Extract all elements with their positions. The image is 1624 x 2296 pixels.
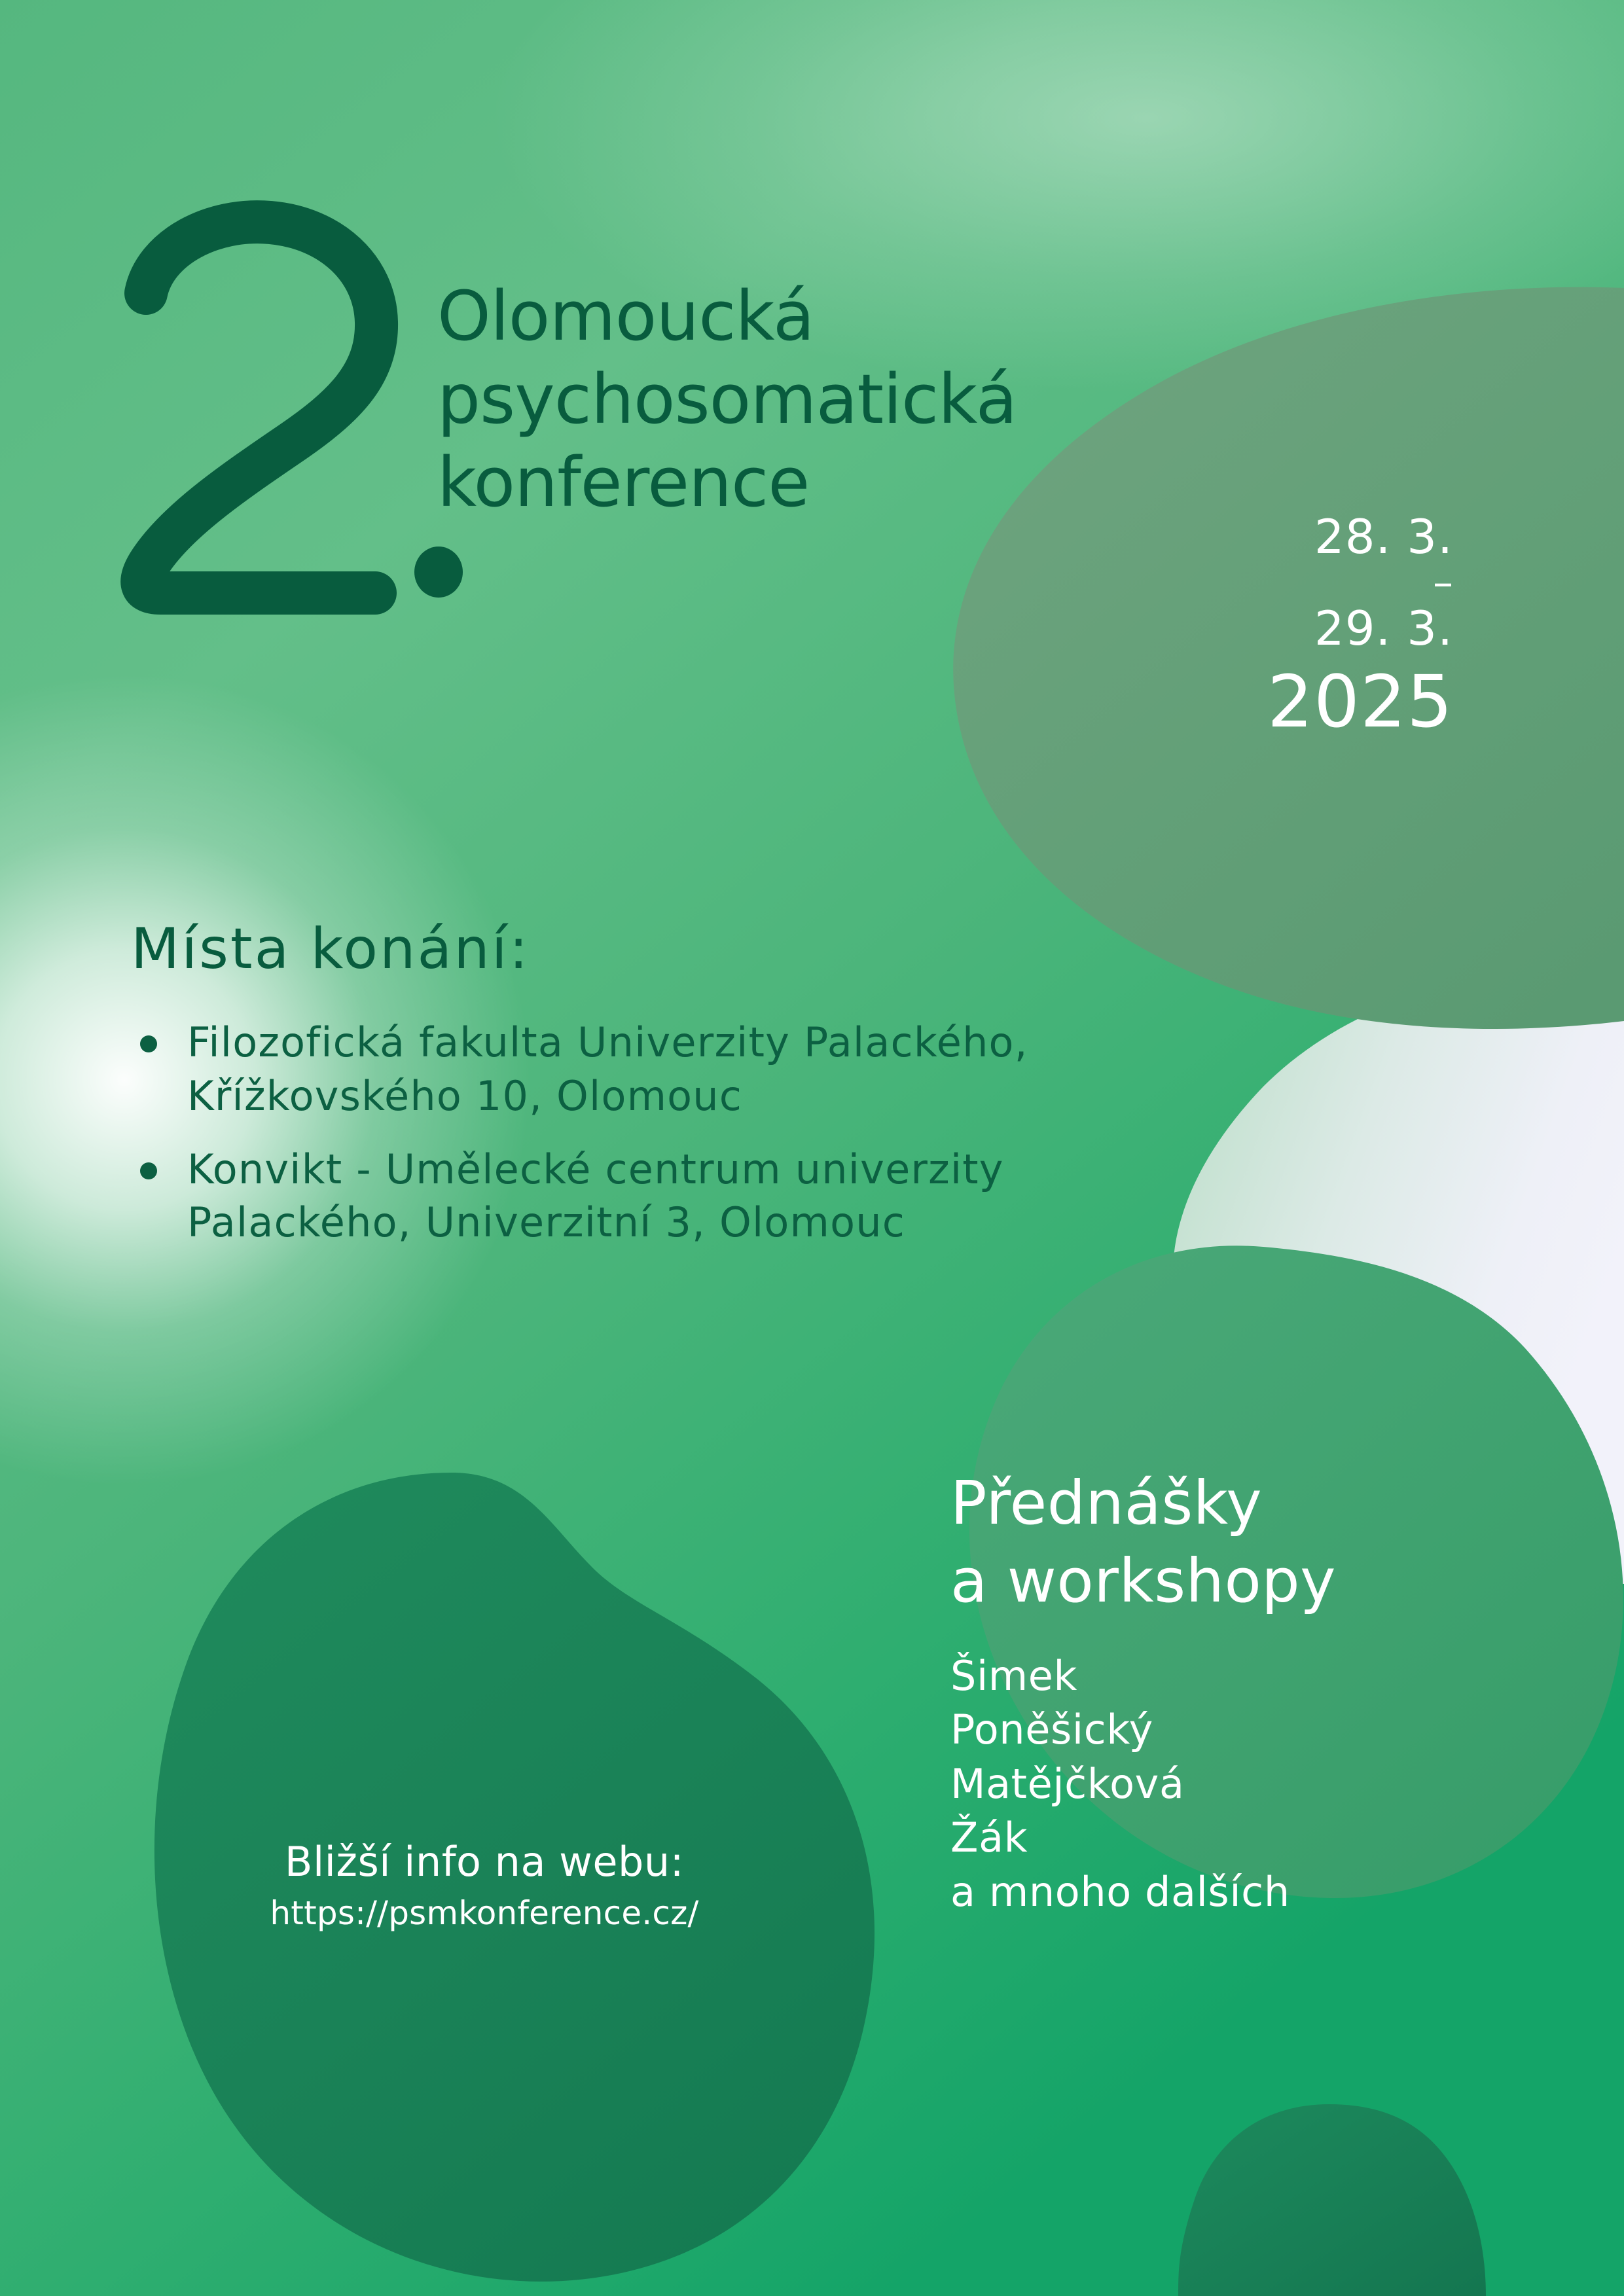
date-range-dash: – — [1060, 564, 1453, 602]
page-title: Olomoucká psychosomatická konference — [437, 275, 1017, 524]
venue-text: Filozofická fakulta Univerzity Palackého… — [187, 1018, 1028, 1120]
title-line-3: konference — [437, 441, 1017, 524]
list-item: Žák — [950, 1811, 1290, 1865]
title-line-1: Olomoucká — [437, 275, 1017, 358]
conference-website-link[interactable]: https://psmkonference.cz/ — [196, 1886, 772, 1936]
venue-text: Konvikt - Umělecké centrum univerzity Pa… — [187, 1145, 1004, 1247]
lectures-heading-line-2: a workshopy — [950, 1543, 1336, 1621]
ordinal-two-numeral — [115, 196, 416, 641]
lectures-heading-line-1: Přednášky — [950, 1465, 1336, 1543]
conference-dates: 28. 3. – 29. 3. 2025 — [1060, 511, 1453, 745]
bullet-icon — [140, 1035, 157, 1052]
list-item: Poněšický — [950, 1703, 1290, 1757]
list-item: Filozofická fakulta Univerzity Palackého… — [131, 1016, 1152, 1123]
title-line-2: psychosomatická — [437, 358, 1017, 441]
speakers-list: Šimek Poněšický Matějčková Žák a mnoho d… — [950, 1649, 1290, 1919]
web-info: Bližší info na webu: https://psmkonferen… — [196, 1838, 772, 1936]
date-start: 28. 3. — [1060, 511, 1453, 564]
ordinal-period-dot — [414, 547, 463, 598]
list-item: Matějčková — [950, 1757, 1290, 1811]
list-item: Konvikt - Umělecké centrum univerzity Pa… — [131, 1143, 1152, 1250]
date-end: 29. 3. — [1060, 602, 1453, 655]
list-item: Šimek — [950, 1649, 1290, 1703]
date-year: 2025 — [1060, 655, 1453, 745]
list-item: a mnoho dalších — [950, 1865, 1290, 1919]
bullet-icon — [140, 1162, 157, 1179]
venues-list: Filozofická fakulta Univerzity Palackého… — [131, 1016, 1152, 1269]
lectures-heading: Přednášky a workshopy — [950, 1465, 1336, 1620]
web-info-label: Bližší info na webu: — [196, 1838, 772, 1886]
conference-poster: Olomoucká psychosomatická konference 28.… — [0, 0, 1624, 2296]
venues-heading: Místa konání: — [131, 916, 530, 982]
